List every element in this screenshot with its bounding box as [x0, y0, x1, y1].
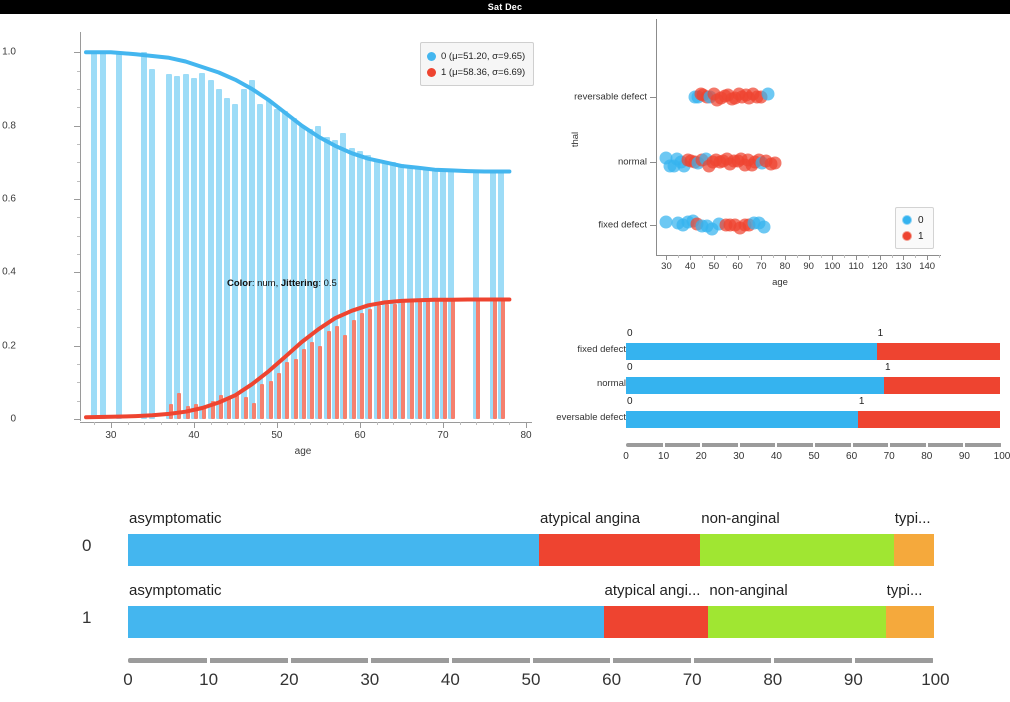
panel2-x-minor-tick	[868, 255, 869, 258]
panel3-x-tick-label: 50	[808, 451, 819, 462]
panel2-scatter-point	[769, 157, 782, 170]
panel2-x-axis-line	[656, 255, 941, 256]
panel4-segment[interactable]: asymptomatic	[128, 606, 604, 638]
panel1-x-tick-label: 70	[437, 430, 448, 441]
panel1-y-minor-tick	[77, 401, 80, 402]
panel1-x-tick-label: 60	[354, 430, 365, 441]
panel3-x-tick-label: 90	[959, 451, 970, 462]
panel2-x-tick	[856, 255, 857, 260]
panel2-y-tick	[650, 225, 656, 226]
panel1-x-minor-tick	[128, 422, 129, 425]
panel1-y-minor-tick	[77, 107, 80, 108]
panel3-axis-notch	[851, 443, 853, 447]
panel1-y-tick	[74, 52, 80, 53]
panel1-x-minor-tick	[294, 422, 295, 425]
panel1-x-minor-tick	[161, 422, 162, 425]
panel4-segment-label: non-anginal	[709, 582, 787, 599]
panel1-x-minor-tick	[476, 422, 477, 425]
panel1-y-minor-tick	[77, 327, 80, 328]
panel4-x-tick-label: 30	[360, 670, 379, 690]
caption-jitter-val: : 0.5	[318, 278, 337, 289]
panel1-y-minor-tick	[77, 309, 80, 310]
panel3-axis-notch	[813, 443, 815, 447]
panel2-legend-label: 0	[918, 215, 924, 226]
panel1-y-tick	[74, 199, 80, 200]
panel4-segment[interactable]: atypical angina	[539, 534, 700, 566]
caption-jitter-key: Jittering	[281, 278, 318, 289]
panel4-x-tick-label: 40	[441, 670, 460, 690]
panel2-x-tick-label: 70	[756, 261, 767, 272]
panel3-x-tick-label: 60	[846, 451, 857, 462]
panel1-y-minor-tick	[77, 382, 80, 383]
panel1-x-axis-label: age	[295, 446, 312, 457]
panel4-axis-notch	[449, 658, 452, 663]
panel3-x-tick-label: 70	[884, 451, 895, 462]
panel4-x-tick-label: 90	[844, 670, 863, 690]
panel4-row: 0asymptomaticatypical anginanon-anginalt…	[0, 512, 1010, 572]
panel2-x-minor-tick	[892, 255, 893, 258]
panel4-row-label: 1	[82, 608, 91, 628]
panel4-row: 1asymptomaticatypical angi...non-anginal…	[0, 584, 1010, 644]
panel4-segment-label: typi...	[887, 582, 923, 599]
panel1-y-tick-label: 1.0	[2, 47, 16, 58]
panel1-curves	[86, 34, 526, 419]
panel2-legend-item[interactable]: 1	[902, 228, 924, 244]
panel1-x-minor-tick	[144, 422, 145, 425]
panel3-axis-notch	[926, 443, 928, 447]
panel1-curve	[86, 300, 509, 418]
panel2-x-minor-tick	[773, 255, 774, 258]
panel1-x-tick-label: 80	[520, 430, 531, 441]
panel1-y-axis-line	[80, 32, 81, 421]
panel3-x-tick-label: 30	[733, 451, 744, 462]
panel3-row: fixed defect01	[556, 328, 1010, 362]
panel1-x-tick	[443, 422, 444, 428]
panel2-x-tick	[785, 255, 786, 260]
panel2-x-tick-label: 30	[661, 261, 672, 272]
panel3-axis-notch	[663, 443, 665, 447]
panel3-axis-notch	[1001, 443, 1003, 447]
panel2-x-axis-label: age	[772, 277, 788, 288]
panel1-x-tick	[194, 422, 195, 428]
panel3-track: 01	[626, 411, 1000, 428]
panel4-segment-label: non-anginal	[701, 510, 779, 527]
panel3-axis-notch	[775, 443, 777, 447]
panel3-row-label: normal	[597, 378, 626, 389]
panel1-y-tick-label: 0.8	[2, 120, 16, 131]
panel2-x-tick-label: 130	[896, 261, 912, 272]
panel1-y-tick	[74, 272, 80, 273]
panel2-category-label: normal	[618, 157, 647, 168]
panel1-y-minor-tick	[77, 71, 80, 72]
panel2-legend[interactable]: 01	[895, 207, 934, 249]
panel1-x-minor-tick	[509, 422, 510, 425]
panel1-x-tick	[526, 422, 527, 428]
panel1-y-tick	[74, 126, 80, 127]
panel1-y-minor-tick	[77, 162, 80, 163]
panel1-x-minor-tick	[211, 422, 212, 425]
panel3-track: 01	[626, 343, 1000, 360]
panel3-x-tick-label: 0	[623, 451, 629, 462]
panel1-x-tick-label: 30	[105, 430, 116, 441]
panel2-y-tick	[650, 162, 656, 163]
panel1-y-tick-label: 0.4	[2, 267, 16, 278]
panel4-x-tick-label: 80	[763, 670, 782, 690]
panel4-x-tick-label: 70	[683, 670, 702, 690]
panel1-x-tick	[111, 422, 112, 428]
panel4-axis-notch	[288, 658, 291, 663]
panel2-x-minor-tick	[797, 255, 798, 258]
panel3-segment[interactable]: 0	[626, 343, 877, 360]
legend-dot-icon	[427, 52, 436, 61]
panel3-axis-notch	[888, 443, 890, 447]
panel2-x-minor-tick	[844, 255, 845, 258]
panel3-segment[interactable]: 0	[626, 411, 858, 428]
panel3-x-tick-label: 100	[994, 451, 1010, 462]
panel2-legend-label: 1	[918, 231, 924, 242]
panel1-x-tick	[360, 422, 361, 428]
panel1-y-tick-label: 0.6	[2, 194, 16, 205]
panel1-x-minor-tick	[227, 422, 228, 425]
panel4-segment[interactable]: atypical angi...	[604, 606, 709, 638]
panel1-x-minor-tick	[260, 422, 261, 425]
panel1-x-minor-tick	[377, 422, 378, 425]
panel1-x-minor-tick	[493, 422, 494, 425]
panel1-x-minor-tick	[177, 422, 178, 425]
panel2-x-minor-tick	[915, 255, 916, 258]
panel2-x-minor-tick	[678, 255, 679, 258]
panel4-segment[interactable]: typi...	[886, 606, 934, 638]
panel3-segment-label: 1	[859, 396, 865, 407]
panel2-x-tick-label: 140	[919, 261, 935, 272]
panel4-axis-notch	[207, 658, 210, 663]
panel2-scatter-point	[762, 88, 775, 101]
panel2-x-tick	[809, 255, 810, 260]
panel3-segment[interactable]: 1	[858, 411, 1000, 428]
panel2-x-minor-tick	[749, 255, 750, 258]
panel4-x-tick-label: 20	[280, 670, 299, 690]
panel4-segment-label: atypical angina	[540, 510, 640, 527]
panel2-y-tick	[650, 97, 656, 98]
panel2-x-minor-tick	[939, 255, 940, 258]
panel4-axis-notch	[852, 658, 855, 663]
panel1-x-tick-label: 40	[188, 430, 199, 441]
panel1-y-minor-tick	[77, 236, 80, 237]
panel3-segment[interactable]: 0	[626, 377, 884, 394]
panel1-x-minor-tick	[327, 422, 328, 425]
panel1-y-tick	[74, 346, 80, 347]
panel4-x-tick-label: 0	[123, 670, 132, 690]
panel4-row-label: 0	[82, 536, 91, 556]
panel3-row-label: eversable defect	[556, 412, 626, 423]
panel4-axis-notch	[368, 658, 371, 663]
panel4-axis-notch	[610, 658, 613, 663]
panel4-segment-label: atypical angi...	[605, 582, 701, 599]
panel1-legend-label: 1 (μ=58.36, σ=6.69)	[441, 67, 525, 78]
panel1-y-tick-label: 0.2	[2, 340, 16, 351]
panel1-plot-area	[86, 34, 526, 419]
panel2-caption: Color: num, Jittering: 0.5	[227, 278, 627, 289]
panel4-x-tick-label: 10	[199, 670, 218, 690]
cp-stacked-bar-chart: 0asymptomaticatypical anginanon-anginalt…	[0, 500, 1010, 702]
panel1-y-minor-tick	[77, 254, 80, 255]
panel1-x-tick	[277, 422, 278, 428]
panel1-legend-item[interactable]: 1 (μ=58.36, σ=6.69)	[427, 64, 525, 80]
panel4-x-tick-label: 60	[602, 670, 621, 690]
panel3-axis-notch	[700, 443, 702, 447]
panel2-x-tick-label: 40	[685, 261, 696, 272]
caption-color-key: Color	[227, 278, 252, 289]
legend-dot-icon	[902, 231, 912, 241]
panel1-y-minor-tick	[77, 217, 80, 218]
panel2-x-tick-label: 50	[709, 261, 720, 272]
panel1-x-tick-label: 50	[271, 430, 282, 441]
panel1-y-minor-tick	[77, 89, 80, 90]
legend-dot-icon	[902, 215, 912, 225]
panel4-x-tick-label: 50	[522, 670, 541, 690]
panel4-segment[interactable]: asymptomatic	[128, 534, 539, 566]
panel4-track: asymptomaticatypical anginanon-anginalty…	[128, 534, 934, 566]
panel2-x-tick	[714, 255, 715, 260]
panel4-segment-label: asymptomatic	[129, 510, 222, 527]
panel3-x-tick-label: 10	[658, 451, 669, 462]
panel4-segment-label: typi...	[895, 510, 931, 527]
panel1-y-minor-tick	[77, 181, 80, 182]
panel3-axis-notch	[963, 443, 965, 447]
panel3-segment[interactable]: 1	[884, 377, 1000, 394]
panel2-x-minor-tick	[821, 255, 822, 258]
panel2-x-minor-tick	[726, 255, 727, 258]
panel3-x-tick-label: 20	[696, 451, 707, 462]
panel2-category-label: reversable defect	[574, 92, 647, 103]
panel4-axis-notch	[933, 658, 936, 663]
panel3-row-label: fixed defect	[577, 344, 626, 355]
panel2-category-label: fixed defect	[598, 220, 647, 231]
panel1-x-minor-tick	[426, 422, 427, 425]
panel4-x-tick-label: 100	[921, 670, 949, 690]
panel2-y-axis-label: thal	[570, 132, 581, 147]
panel4-segment[interactable]: non-anginal	[708, 606, 885, 638]
panel3-row: normal01	[556, 362, 1010, 396]
panel1-legend[interactable]: 0 (μ=51.20, σ=9.65)1 (μ=58.36, σ=6.69)	[420, 42, 534, 86]
panel2-x-tick	[666, 255, 667, 260]
panel2-x-minor-tick	[702, 255, 703, 258]
panel1-x-axis-line	[80, 422, 532, 423]
caption-color-val: : num,	[252, 278, 281, 289]
panel2-x-tick-label: 120	[872, 261, 888, 272]
panel2-x-tick	[880, 255, 881, 260]
panel2-x-tick-label: 60	[732, 261, 743, 272]
panel3-segment[interactable]: 1	[877, 343, 1000, 360]
panel3-segment-label: 1	[885, 362, 891, 373]
panel4-segment[interactable]: typi...	[894, 534, 934, 566]
panel2-x-tick-label: 90	[803, 261, 814, 272]
panel3-segment-label: 0	[627, 362, 633, 373]
panel3-segment-label: 0	[627, 328, 633, 339]
panel2-x-tick	[690, 255, 691, 260]
panel1-x-minor-tick	[244, 422, 245, 425]
panel1-x-minor-tick	[393, 422, 394, 425]
legend-dot-icon	[427, 68, 436, 77]
panel2-x-tick-label: 80	[780, 261, 791, 272]
panel2-legend-item[interactable]: 0	[902, 212, 924, 228]
panel4-segment[interactable]: non-anginal	[700, 534, 893, 566]
panel1-legend-item[interactable]: 0 (μ=51.20, σ=9.65)	[427, 48, 525, 64]
panel1-x-minor-tick	[460, 422, 461, 425]
panel3-row: eversable defect01	[556, 396, 1010, 430]
panel1-y-tick	[74, 419, 80, 420]
thal-age-scatter-chart: thal reversable defectnormalfixed defect…	[556, 14, 1010, 314]
panel1-x-minor-tick	[343, 422, 344, 425]
panel1-legend-label: 0 (μ=51.20, σ=9.65)	[441, 51, 525, 62]
panel1-x-minor-tick	[94, 422, 95, 425]
panel4-track: asymptomaticatypical angi...non-anginalt…	[128, 606, 934, 638]
app-root: Sat Dec Probability of 'num' at given 'a…	[0, 0, 1010, 702]
panel4-axis-notch	[530, 658, 533, 663]
panel4-axis-notch	[771, 658, 774, 663]
probability-curve-chart: Probability of 'num' at given 'age' 00.2…	[0, 14, 556, 454]
panel3-x-tick-label: 80	[921, 451, 932, 462]
panel2-x-tick-label: 100	[824, 261, 840, 272]
panel3-track: 01	[626, 377, 1000, 394]
panel3-x-tick-label: 40	[771, 451, 782, 462]
panel3-segment-label: 0	[627, 396, 633, 407]
panel1-y-minor-tick	[77, 364, 80, 365]
panel1-y-minor-tick	[77, 144, 80, 145]
panel2-x-tick	[903, 255, 904, 260]
panel3-axis-notch	[738, 443, 740, 447]
panel2-x-tick	[738, 255, 739, 260]
system-topbar: Sat Dec	[0, 0, 1010, 14]
panel4-axis-notch	[691, 658, 694, 663]
panel1-y-minor-tick	[77, 291, 80, 292]
topbar-clock: Sat Dec	[488, 2, 522, 12]
panel4-segment-label: asymptomatic	[129, 582, 222, 599]
panel2-x-tick	[761, 255, 762, 260]
panel2-scatter-point	[757, 220, 770, 233]
panel1-x-minor-tick	[410, 422, 411, 425]
panel1-y-tick-label: 0	[10, 414, 16, 425]
panel2-x-tick	[927, 255, 928, 260]
panel2-x-tick	[832, 255, 833, 260]
panel1-x-minor-tick	[310, 422, 311, 425]
panel2-x-tick-label: 110	[848, 261, 863, 272]
panel3-segment-label: 1	[878, 328, 884, 339]
